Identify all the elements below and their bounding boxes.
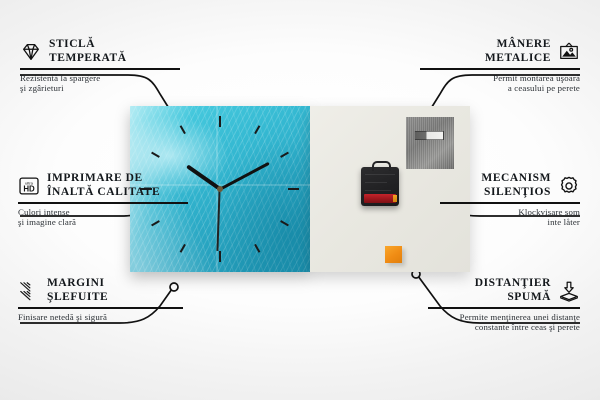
callout-title: DISTANŢIERSPUMĂ: [475, 277, 551, 304]
mechanism-detail-line: [365, 182, 387, 183]
callout-title: STICLĂTEMPERATĂ: [49, 38, 127, 65]
infographic-canvas: STICLĂTEMPERATĂ Rezistentă la spargereşi…: [0, 0, 600, 400]
mechanism-detail-line: [365, 190, 391, 191]
press-down-pad-icon: [558, 280, 580, 302]
callout-polished-edges: MARGINIŞLEFUITE Finisare netedă şi sigur…: [18, 277, 183, 322]
hanger-slot: [414, 131, 444, 140]
callout-header: ultra HD IMPRIMARE DEÎNALTĂ CALITATE: [18, 172, 188, 199]
ultra-hd-icon: ultra HD: [18, 175, 40, 197]
callout-tempered-glass: STICLĂTEMPERATĂ Rezistentă la spargereşi…: [20, 38, 180, 94]
callout-rule: [20, 68, 180, 70]
mechanism-hanger-loop: [372, 161, 391, 171]
hatched-edges-icon: [18, 280, 40, 302]
callout-rule: [440, 202, 580, 204]
callout-rule: [18, 307, 183, 309]
callout-header: MECANISMSILENŢIOS: [440, 172, 580, 199]
callout-rule: [420, 68, 580, 70]
gear-icon: [558, 175, 580, 197]
callout-rule: [428, 307, 580, 309]
quartz-mechanism-part: [361, 167, 399, 206]
callout-high-quality-print: ultra HD IMPRIMARE DEÎNALTĂ CALITATE Cul…: [18, 172, 188, 228]
callout-header: MÂNEREMETALICE: [420, 38, 580, 65]
callout-metal-handles: MÂNEREMETALICE Permit montarea uşoarăa c…: [420, 38, 580, 94]
picture-frame-hanger-icon: [558, 41, 580, 63]
callout-title: MARGINIŞLEFUITE: [47, 277, 108, 304]
callout-title: MÂNEREMETALICE: [485, 38, 551, 65]
metal-hanger-part: [406, 117, 454, 169]
battery-part: [364, 194, 396, 203]
callout-rule: [18, 202, 188, 204]
callout-title: MECANISMSILENŢIOS: [481, 172, 551, 199]
callout-subtitle: Culori intenseşi imagine clară: [18, 207, 188, 228]
callout-subtitle: Permit montarea uşoarăa ceasului pe pere…: [420, 73, 580, 94]
callout-header: DISTANŢIERSPUMĂ: [428, 277, 580, 304]
callout-subtitle: Permite menţinerea unei distanţeconstant…: [428, 312, 580, 333]
svg-text:HD: HD: [23, 184, 35, 193]
callout-header: MARGINIŞLEFUITE: [18, 277, 183, 304]
callout-title: IMPRIMARE DEÎNALTĂ CALITATE: [47, 172, 160, 199]
clock-center-cap: [217, 186, 223, 192]
callout-silent-mechanism: MECANISMSILENŢIOS Klockvisare sominte lå…: [440, 172, 580, 228]
mechanism-detail-line: [365, 174, 395, 175]
callout-header: STICLĂTEMPERATĂ: [20, 38, 180, 65]
callout-subtitle: Klockvisare sominte låter: [440, 207, 580, 228]
callout-subtitle: Finisare netedă şi sigură: [18, 312, 183, 323]
callout-foam-spacer: DISTANŢIERSPUMĂ Permite menţinerea unei …: [428, 277, 580, 333]
foam-spacer-part: [385, 246, 402, 263]
diamond-icon: [20, 41, 42, 63]
callout-subtitle: Rezistentă la spargereşi zgârieturi: [20, 73, 180, 94]
